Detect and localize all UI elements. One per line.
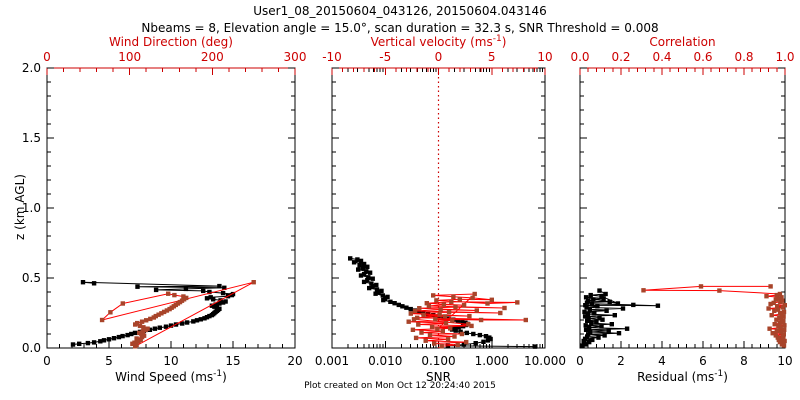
data-point bbox=[434, 298, 438, 302]
x-axis-label-top: Correlation bbox=[649, 35, 715, 49]
data-point bbox=[617, 331, 621, 335]
data-point bbox=[209, 295, 213, 299]
x-tick-label-top: 10 bbox=[537, 50, 552, 64]
data-point bbox=[778, 292, 782, 296]
panel-1: 05101520Wind Speed (ms-1)0100200300Wind … bbox=[22, 35, 307, 384]
data-point bbox=[362, 280, 366, 284]
x-tick-label: 8 bbox=[740, 354, 748, 368]
data-point bbox=[438, 307, 442, 311]
data-point bbox=[443, 314, 447, 318]
x-tick-label-top: 5 bbox=[488, 50, 496, 64]
data-point bbox=[475, 308, 479, 312]
x-tick-label: 0.001 bbox=[315, 354, 349, 368]
data-point bbox=[217, 284, 221, 288]
x-tick-label: 0.010 bbox=[368, 354, 402, 368]
data-point bbox=[201, 289, 205, 293]
data-point bbox=[371, 277, 375, 281]
data-point bbox=[767, 327, 771, 331]
y-tick-label: 0.5 bbox=[22, 271, 41, 285]
data-point bbox=[584, 295, 588, 299]
data-point bbox=[411, 328, 415, 332]
data-point bbox=[621, 306, 625, 310]
data-point bbox=[584, 323, 588, 327]
data-point bbox=[356, 267, 360, 271]
data-point bbox=[417, 306, 421, 310]
data-point bbox=[416, 322, 420, 326]
data-point bbox=[602, 333, 606, 337]
x-tick-label: 20 bbox=[287, 354, 302, 368]
data-point bbox=[368, 271, 372, 275]
data-point bbox=[458, 297, 462, 301]
data-point bbox=[641, 288, 645, 292]
data-point bbox=[359, 273, 363, 277]
data-point bbox=[92, 340, 96, 344]
data-point bbox=[367, 286, 371, 290]
data-point bbox=[133, 344, 137, 348]
data-point bbox=[441, 329, 445, 333]
x-tick-label-top: 0.0 bbox=[570, 50, 589, 64]
data-point bbox=[783, 303, 787, 307]
x-tick-label-top: 0.8 bbox=[734, 50, 753, 64]
data-point bbox=[71, 342, 75, 346]
panel-2: 0.0010.0100.1001.00010.000SNR-10-50510Ve… bbox=[315, 34, 566, 384]
data-point bbox=[435, 327, 439, 331]
data-point bbox=[409, 307, 413, 311]
data-point bbox=[120, 334, 124, 338]
x-tick-label: 0.100 bbox=[421, 354, 455, 368]
data-point bbox=[252, 280, 256, 284]
data-point bbox=[144, 318, 148, 322]
x-tick-label-top: 300 bbox=[284, 50, 307, 64]
y-tick-label: 2.0 bbox=[22, 61, 41, 75]
data-point bbox=[448, 326, 452, 330]
data-point bbox=[595, 304, 599, 308]
data-point bbox=[656, 304, 660, 308]
data-point bbox=[465, 331, 469, 335]
x-tick-label: 0 bbox=[43, 354, 51, 368]
data-point bbox=[533, 344, 537, 348]
data-point bbox=[599, 324, 603, 328]
data-point bbox=[134, 336, 138, 340]
data-point bbox=[771, 331, 775, 335]
data-point bbox=[185, 320, 189, 324]
data-point bbox=[616, 301, 620, 305]
y-tick-label: 1.0 bbox=[22, 201, 41, 215]
data-point bbox=[589, 321, 593, 325]
data-point bbox=[625, 327, 629, 331]
data-point bbox=[381, 298, 385, 302]
x-tick-label: 2 bbox=[617, 354, 625, 368]
data-point bbox=[498, 311, 502, 315]
data-point bbox=[431, 293, 435, 297]
data-point bbox=[486, 338, 490, 342]
data-point bbox=[597, 315, 601, 319]
panel-frame bbox=[580, 68, 785, 348]
x-tick-label: 10.000 bbox=[524, 354, 566, 368]
data-point bbox=[462, 303, 466, 307]
x-axis-label-top: Vertical velocity (ms-1) bbox=[371, 34, 507, 49]
data-point bbox=[223, 299, 227, 303]
data-point bbox=[599, 294, 603, 298]
data-point bbox=[140, 320, 144, 324]
series-line-correlation bbox=[644, 286, 785, 345]
x-tick-label-top: -5 bbox=[379, 50, 391, 64]
data-point bbox=[154, 288, 158, 292]
data-point bbox=[474, 341, 478, 345]
data-point bbox=[473, 292, 477, 296]
data-point bbox=[432, 341, 436, 345]
data-point bbox=[456, 343, 460, 347]
data-point bbox=[450, 318, 454, 322]
data-point bbox=[452, 334, 456, 338]
data-point bbox=[158, 326, 162, 330]
data-point bbox=[404, 306, 408, 310]
data-point bbox=[766, 306, 770, 310]
data-point bbox=[451, 295, 455, 299]
data-point bbox=[352, 260, 356, 264]
data-point bbox=[440, 344, 444, 348]
data-point bbox=[437, 312, 441, 316]
panel-3: 0246810Residual (ms-1)0.00.20.40.60.81.0… bbox=[570, 35, 794, 384]
plot-canvas: 05101520Wind Speed (ms-1)0100200300Wind … bbox=[0, 0, 800, 400]
data-point bbox=[590, 338, 594, 342]
data-point bbox=[348, 256, 352, 260]
data-point bbox=[444, 321, 448, 325]
data-point bbox=[449, 300, 453, 304]
data-point bbox=[195, 318, 199, 322]
data-point bbox=[413, 309, 417, 313]
data-point bbox=[388, 300, 392, 304]
data-point bbox=[591, 297, 595, 301]
data-point bbox=[613, 313, 617, 317]
x-tick-label-top: 100 bbox=[118, 50, 141, 64]
data-point bbox=[409, 311, 413, 315]
data-point bbox=[86, 341, 90, 345]
data-point bbox=[454, 328, 458, 332]
data-point bbox=[442, 302, 446, 306]
data-point bbox=[773, 322, 777, 326]
data-point bbox=[466, 322, 470, 326]
x-axis-label: Residual (ms-1) bbox=[637, 369, 728, 384]
data-point bbox=[764, 294, 768, 298]
data-point bbox=[481, 340, 485, 344]
data-point bbox=[608, 300, 612, 304]
x-axis-label: Wind Speed (ms-1) bbox=[115, 369, 227, 384]
data-point bbox=[407, 320, 411, 324]
data-point bbox=[592, 311, 596, 315]
x-tick-label-top: 200 bbox=[201, 50, 224, 64]
data-point bbox=[108, 310, 112, 314]
data-point bbox=[172, 293, 176, 297]
data-point bbox=[588, 330, 592, 334]
data-point bbox=[603, 292, 607, 296]
data-point bbox=[221, 291, 225, 295]
x-tick-label-top: 0.2 bbox=[611, 50, 630, 64]
x-tick-label-top: 0.6 bbox=[693, 50, 712, 64]
data-point bbox=[135, 285, 139, 289]
data-point bbox=[81, 280, 85, 284]
data-point bbox=[400, 304, 404, 308]
data-point bbox=[631, 303, 635, 307]
data-point bbox=[770, 313, 774, 317]
data-point bbox=[471, 332, 475, 336]
x-tick-label: 15 bbox=[225, 354, 240, 368]
data-point bbox=[425, 301, 429, 305]
data-point bbox=[768, 284, 772, 288]
data-point bbox=[412, 317, 416, 321]
data-point bbox=[428, 333, 432, 337]
data-point bbox=[490, 298, 494, 302]
data-point bbox=[107, 337, 111, 341]
data-point bbox=[121, 301, 125, 305]
data-point bbox=[421, 313, 425, 317]
x-tick-label-top: 0 bbox=[435, 50, 443, 64]
data-point bbox=[447, 310, 451, 314]
data-point bbox=[610, 322, 614, 326]
x-tick-label-top: -10 bbox=[322, 50, 342, 64]
data-point bbox=[589, 293, 593, 297]
data-point bbox=[92, 281, 96, 285]
data-point bbox=[145, 327, 149, 331]
data-point bbox=[112, 336, 116, 340]
data-point bbox=[135, 321, 139, 325]
data-point bbox=[467, 314, 471, 318]
x-axis-label: SNR bbox=[426, 370, 451, 384]
data-point bbox=[582, 310, 586, 314]
data-point bbox=[77, 342, 81, 346]
x-axis-label-top: Wind Direction (deg) bbox=[109, 35, 233, 49]
x-tick-label: 5 bbox=[105, 354, 113, 368]
data-point bbox=[502, 306, 506, 310]
x-tick-label: 6 bbox=[699, 354, 707, 368]
data-point bbox=[181, 294, 185, 298]
data-point bbox=[596, 335, 600, 339]
data-point bbox=[464, 340, 468, 344]
x-tick-label: 10 bbox=[163, 354, 178, 368]
data-point bbox=[782, 310, 786, 314]
y-tick-label: 1.5 bbox=[22, 131, 41, 145]
data-point bbox=[460, 332, 464, 336]
data-point bbox=[433, 317, 437, 321]
data-point bbox=[419, 330, 423, 334]
data-point bbox=[604, 309, 608, 313]
data-point bbox=[453, 305, 457, 309]
data-point bbox=[392, 301, 396, 305]
data-point bbox=[184, 287, 188, 291]
data-point bbox=[524, 318, 528, 322]
data-point bbox=[717, 288, 721, 292]
series-line-wind-direction bbox=[102, 282, 254, 346]
data-point bbox=[446, 337, 450, 341]
data-point bbox=[485, 301, 489, 305]
data-point bbox=[430, 325, 434, 329]
x-tick-label-top: 0.4 bbox=[652, 50, 671, 64]
data-point bbox=[479, 318, 483, 322]
data-point bbox=[478, 333, 482, 337]
data-point bbox=[594, 320, 598, 324]
x-tick-label: 1.000 bbox=[475, 354, 509, 368]
x-tick-label: 10 bbox=[777, 354, 792, 368]
data-point bbox=[424, 339, 428, 343]
data-point bbox=[100, 318, 104, 322]
data-point bbox=[373, 292, 377, 296]
data-point bbox=[470, 296, 474, 300]
x-tick-label: 4 bbox=[658, 354, 666, 368]
data-point bbox=[365, 265, 369, 269]
data-point bbox=[597, 288, 601, 292]
x-tick-label-top: 1.0 bbox=[775, 50, 794, 64]
data-point bbox=[699, 284, 703, 288]
data-point bbox=[102, 338, 106, 342]
data-point bbox=[414, 336, 418, 340]
x-tick-label: 0 bbox=[576, 354, 584, 368]
data-point bbox=[607, 329, 611, 333]
data-point bbox=[153, 327, 157, 331]
data-point bbox=[166, 292, 170, 296]
data-point bbox=[515, 300, 519, 304]
y-tick-label: 0.0 bbox=[22, 341, 41, 355]
data-point bbox=[133, 331, 137, 335]
x-tick-label-top: 0 bbox=[43, 50, 51, 64]
